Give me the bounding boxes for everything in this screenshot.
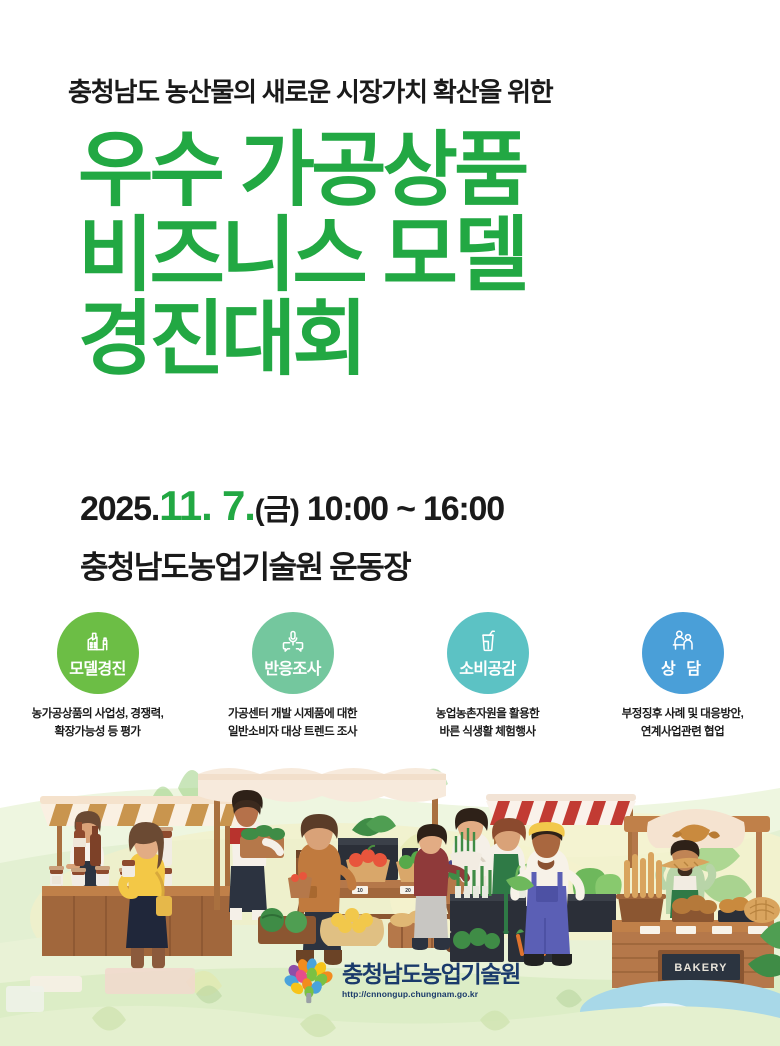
consultation-icon: [670, 628, 696, 654]
logo-website-url: http://cnnongup.chungnam.go.kr: [342, 989, 520, 999]
badge-caption-2: 가공센터 개발 시제품에 대한 일반소비자 대상 트렌드 조사: [228, 706, 357, 742]
organization-logo: 충청남도농업기술원 http://cnnongup.chungnam.go.kr: [283, 958, 520, 1004]
badge-item-consultation[interactable]: 상 담 부정징후 사례 및 대응방안, 연계사업관련 협업: [585, 612, 780, 742]
logo-text-block: 충청남도농업기술원 http://cnnongup.chungnam.go.kr: [342, 963, 520, 999]
factory-icon: [85, 628, 111, 654]
poster-canvas: 충청남도 농산물의 새로운 시장가치 확산을 위한 우수 가공상품 비즈니스 모…: [0, 0, 780, 1046]
badge-caption-3-line1: 농업농촌자원을 활용한: [436, 706, 540, 724]
date-year: 2025.: [80, 490, 159, 528]
badge-caption-4-line1: 부정징후 사례 및 대응방안,: [622, 706, 744, 724]
poster-subtitle: 충청남도 농산물의 새로운 시장가치 확산을 위한: [68, 72, 553, 109]
poster-title: 우수 가공상품 비즈니스 모델 경진대회: [78, 132, 525, 386]
badge-caption-2-line2: 일반소비자 대상 트렌드 조사: [228, 724, 357, 742]
badge-caption-1-line2: 확장가능성 등 평가: [32, 724, 164, 742]
bakery-sign-text: BAKERY: [674, 962, 727, 974]
program-badges: 모델경진 농가공상품의 사업성, 경쟁력, 확장가능성 등 평가: [0, 612, 780, 742]
date-time: 10:00 ~ 16:00: [307, 490, 504, 528]
badge-caption-1-line1: 농가공상품의 사업성, 경쟁력,: [32, 706, 164, 724]
chungnam-flower-tree-logo-icon: [283, 958, 335, 1004]
badge-circle-4[interactable]: 상 담: [642, 612, 724, 694]
badge-label-2: 반응조사: [264, 655, 320, 679]
event-venue: 충청남도농업기술원 운동장: [80, 542, 410, 587]
badge-item-consumer-experience[interactable]: 소비공감 농업농촌자원을 활용한 바른 식생활 체험행사: [390, 612, 585, 742]
badge-caption-1: 농가공상품의 사업성, 경쟁력, 확장가능성 등 평가: [32, 706, 164, 742]
badge-circle-2[interactable]: 반응조사: [252, 612, 334, 694]
badge-caption-2-line1: 가공센터 개발 시제품에 대한: [228, 706, 357, 724]
title-line-1: 우수 가공상품: [78, 132, 525, 211]
farmers-market-illustration: 10 13 10 20: [0, 768, 780, 1046]
badge-caption-3: 농업농촌자원을 활용한 바른 식생활 체험행사: [436, 706, 540, 742]
price-tag-2: 10: [357, 888, 363, 894]
badge-circle-1[interactable]: 모델경진: [57, 612, 139, 694]
price-tag-3: 20: [405, 888, 411, 894]
badge-item-model-competition[interactable]: 모델경진 농가공상품의 사업성, 경쟁력, 확장가능성 등 평가: [0, 612, 195, 742]
badge-caption-4: 부정징후 사례 및 대응방안, 연계사업관련 협업: [622, 706, 744, 742]
badge-label-1: 모델경진: [69, 655, 125, 679]
badge-caption-4-line2: 연계사업관련 협업: [622, 724, 744, 742]
badge-circle-3[interactable]: 소비공감: [447, 612, 529, 694]
badge-caption-3-line2: 바른 식생활 체험행사: [436, 724, 540, 742]
title-line-2: 비즈니스 모델: [78, 217, 525, 296]
event-datetime: 2025.11. 7.(금) 10:00 ~ 16:00: [80, 482, 504, 530]
microphone-survey-icon: [280, 628, 306, 654]
title-line-3: 경진대회: [78, 301, 525, 380]
date-month-day: 11. 7.: [159, 482, 255, 529]
badge-label-3: 소비공감: [459, 655, 515, 679]
drink-glass-icon: [475, 628, 501, 654]
badge-item-response-survey[interactable]: 반응조사 가공센터 개발 시제품에 대한 일반소비자 대상 트렌드 조사: [195, 612, 390, 742]
date-weekday: (금): [255, 494, 299, 527]
logo-organization-name: 충청남도농업기술원: [342, 963, 520, 986]
badge-label-4: 상 담: [661, 655, 704, 679]
